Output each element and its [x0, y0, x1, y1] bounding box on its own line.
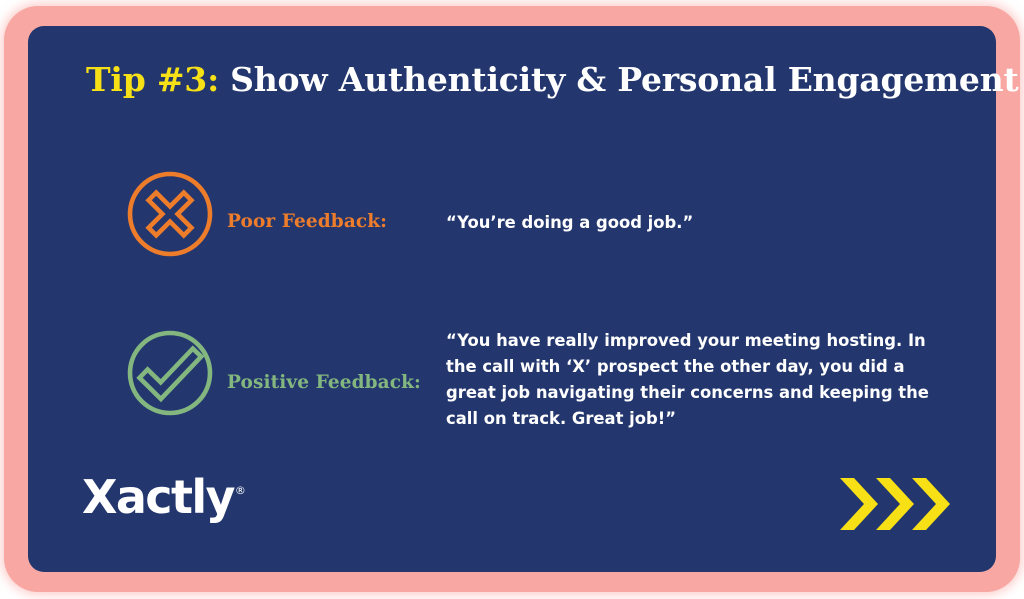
title-tip-label: Tip #3:: [86, 60, 219, 99]
page-title: Tip #3:Show Authenticity & Personal Enga…: [86, 60, 966, 99]
feedback-quote-poor: “You’re doing a good job.”: [446, 210, 943, 236]
feedback-label-positive: Positive Feedback:: [227, 372, 439, 393]
slide-card: Tip #3:Show Authenticity & Personal Enga…: [28, 26, 996, 572]
triple-chevron-right-icon: [838, 474, 958, 534]
circle-x-icon: [126, 170, 214, 258]
logo-trademark-symbol: ®: [235, 484, 246, 497]
slide-outer-frame: Tip #3:Show Authenticity & Personal Enga…: [4, 6, 1020, 592]
title-heading: Show Authenticity & Personal Engagement: [230, 60, 1018, 99]
feedback-label-poor: Poor Feedback:: [227, 211, 439, 232]
xactly-logo: Xactly®: [82, 470, 246, 524]
circle-check-icon: [126, 329, 214, 417]
feedback-row-poor: Poor Feedback: “You’re doing a good job.…: [28, 170, 996, 280]
logo-wordmark: Xactly: [82, 470, 234, 524]
feedback-quote-positive: “You have really improved your meeting h…: [446, 328, 943, 432]
feedback-row-positive: Positive Feedback: “You have really impr…: [28, 326, 996, 436]
